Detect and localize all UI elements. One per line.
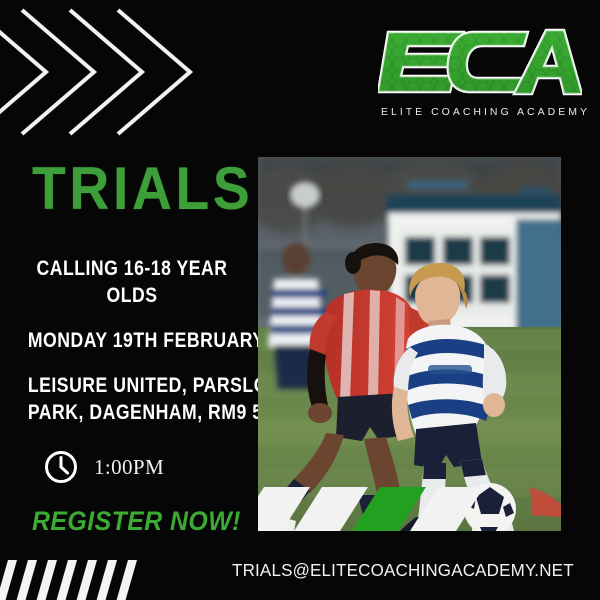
- diagonal-slashes: [0, 556, 146, 600]
- poster-canvas: ELITE COACHING ACADEMY TRIALS CALLING 16…: [0, 0, 600, 600]
- register-now-cta[interactable]: REGISTER NOW!: [32, 506, 241, 537]
- chevron-arrows: [0, 6, 210, 138]
- venue-line-1: LEISURE UNITED, PARSLOES: [28, 372, 236, 399]
- event-time: 1:00PM: [94, 455, 164, 480]
- event-date: MONDAY 19TH FEBRUARY: [28, 327, 236, 354]
- age-group-block: CALLING 16-18 YEAR OLDS: [8, 255, 256, 309]
- chevron-icon: [114, 6, 204, 138]
- age-group-line-1: CALLING 16-18 YEAR: [28, 255, 236, 282]
- age-group-line-2: OLDS: [28, 282, 236, 309]
- page-title: TRIALS: [32, 158, 253, 220]
- clock-icon: [44, 450, 78, 484]
- event-time-row: 1:00PM: [44, 450, 164, 484]
- eca-logo-mark: [378, 22, 582, 102]
- eca-logo-tagline: ELITE COACHING ACADEMY: [378, 106, 582, 118]
- venue-line-2: PARK, DAGENHAM, RM9 5PU: [28, 399, 236, 426]
- contact-email[interactable]: TRIALS@ELITECOACHINGACADEMY.NET: [232, 560, 581, 581]
- event-details: CALLING 16-18 YEAR OLDS MONDAY 19TH FEBR…: [8, 255, 256, 426]
- venue-block: LEISURE UNITED, PARSLOES PARK, DAGENHAM,…: [8, 372, 256, 426]
- date-block: MONDAY 19TH FEBRUARY: [8, 327, 256, 354]
- eca-logo: ELITE COACHING ACADEMY: [378, 22, 582, 130]
- match-photo: [258, 157, 561, 531]
